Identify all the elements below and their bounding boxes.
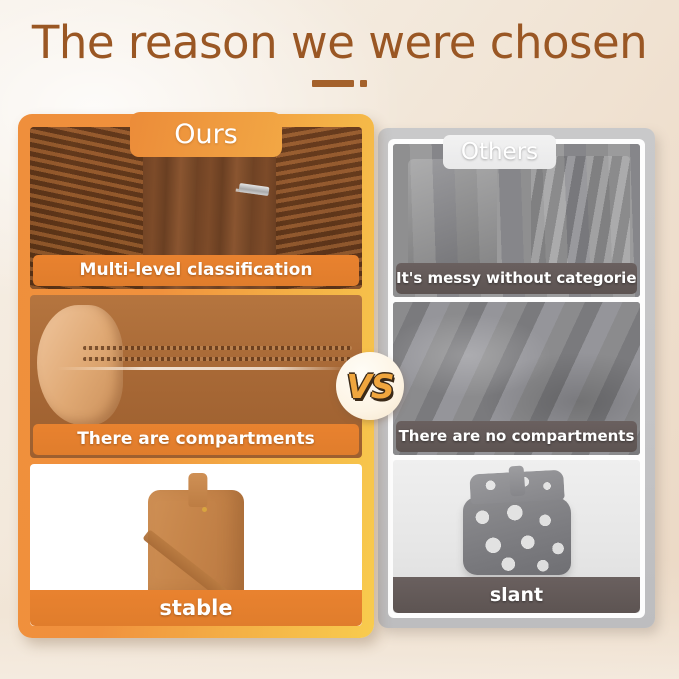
polka-dot-bag-handle-icon bbox=[508, 466, 525, 497]
tan-bag-strap-icon bbox=[188, 473, 207, 507]
infographic-canvas: The reason we were chosen Multi-level cl… bbox=[0, 0, 679, 679]
others-panel[interactable]: It's messy without categories There are … bbox=[378, 128, 655, 628]
zipper-pull-icon bbox=[239, 183, 270, 196]
ours-caption-3: stable bbox=[30, 590, 362, 626]
ours-panel[interactable]: Multi-level classification There are com… bbox=[18, 114, 374, 638]
polka-dot-bag-body-icon bbox=[463, 497, 571, 575]
ours-caption-1: Multi-level classification bbox=[33, 255, 359, 286]
vs-badge: VS bbox=[336, 352, 404, 420]
others-row-3[interactable]: slant bbox=[393, 460, 640, 613]
others-row-stack: It's messy without categories There are … bbox=[388, 139, 645, 618]
seam-line-icon bbox=[83, 346, 352, 350]
vs-label: VS bbox=[346, 370, 393, 403]
others-caption-3: slant bbox=[393, 577, 640, 613]
ours-tab-label[interactable]: Ours bbox=[130, 112, 282, 157]
page-title: The reason we were chosen bbox=[0, 16, 679, 70]
others-caption-2: There are no compartments bbox=[396, 421, 637, 452]
tan-bag-stud-icon bbox=[202, 507, 207, 512]
ours-row-2[interactable]: There are compartments bbox=[30, 295, 362, 457]
ours-caption-2: There are compartments bbox=[33, 424, 359, 455]
divider-dot-icon bbox=[360, 80, 367, 87]
others-tab-label[interactable]: Others bbox=[443, 135, 556, 169]
ours-row-3[interactable]: stable bbox=[30, 464, 362, 626]
tan-bag-body-icon bbox=[148, 490, 244, 602]
others-row-2[interactable]: There are no compartments bbox=[393, 302, 640, 455]
title-divider bbox=[0, 80, 679, 87]
seam-line-icon bbox=[83, 357, 352, 361]
others-caption-1: It's messy without categories bbox=[396, 263, 637, 294]
divider-bar-icon bbox=[312, 80, 354, 87]
heading-block: The reason we were chosen bbox=[0, 16, 679, 87]
ours-row-stack: Multi-level classification There are com… bbox=[30, 127, 362, 626]
